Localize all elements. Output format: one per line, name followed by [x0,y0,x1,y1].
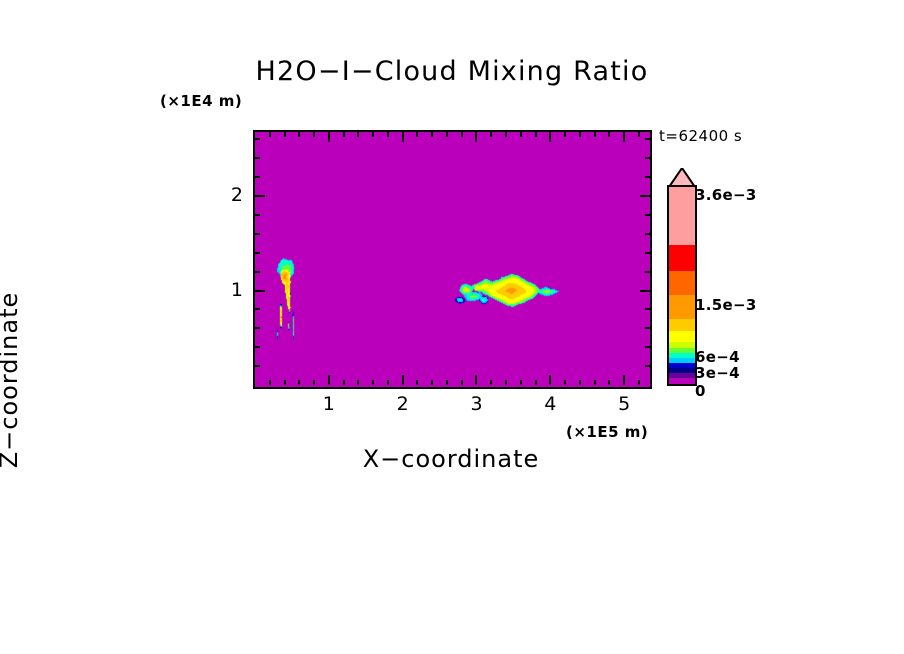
x-minor-tick-top [313,132,315,137]
x-minor-tick [372,380,374,385]
x-minor-tick-top [564,132,566,137]
y-axis-unit-label: (×1E4 m) [160,92,242,110]
x-minor-tick [520,380,522,385]
y-major-tick [255,290,265,292]
x-minor-tick-top [461,132,463,137]
y-minor-tick-right [645,365,650,367]
x-major-tick-top [623,132,625,142]
y-major-tick [255,195,265,197]
x-tick-label: 1 [314,393,344,415]
x-tick-label: 5 [609,393,639,415]
x-major-tick-top [475,132,477,142]
x-minor-tick [313,380,315,385]
colorbar-tick-label: 3.6e−3 [695,186,757,204]
x-minor-tick [579,380,581,385]
y-minor-tick [255,157,260,159]
y-minor-tick-right [645,157,650,159]
y-minor-tick-right [645,271,650,273]
x-major-tick [328,375,330,385]
timestamp-label: t=62400 s [659,127,742,145]
x-tick-label: 4 [535,393,565,415]
x-minor-tick-top [594,132,596,137]
y-minor-tick-right [645,233,650,235]
x-minor-tick [638,380,640,385]
y-axis-title: Z−coordinate [0,180,23,580]
y-minor-tick [255,233,260,235]
x-minor-tick [446,380,448,385]
x-major-tick [475,375,477,385]
x-minor-tick [284,380,286,385]
y-minor-tick-right [645,346,650,348]
x-minor-tick [298,380,300,385]
x-minor-tick [535,380,537,385]
colorbar-band [667,331,697,342]
x-minor-tick-top [357,132,359,137]
y-minor-tick [255,346,260,348]
colorbar-bands [667,185,697,386]
colorbar-band [667,245,697,271]
colorbar-band [667,185,697,245]
y-tick-label: 1 [213,279,243,301]
page-title: H2O−I−Cloud Mixing Ratio [0,56,904,87]
x-minor-tick [564,380,566,385]
colorbar-tick-label: 3e−4 [695,364,740,382]
x-minor-tick-top [298,132,300,137]
x-minor-tick-top [490,132,492,137]
x-minor-tick [594,380,596,385]
x-minor-tick-top [505,132,507,137]
x-minor-tick-top [284,132,286,137]
x-tick-label: 2 [388,393,418,415]
y-major-tick-right [640,290,650,292]
x-minor-tick-top [638,132,640,137]
x-major-tick-top [328,132,330,142]
y-minor-tick-right [645,308,650,310]
y-minor-tick-right [645,252,650,254]
x-minor-tick [608,380,610,385]
y-minor-tick-right [645,214,650,216]
y-minor-tick [255,214,260,216]
y-minor-tick [255,308,260,310]
x-minor-tick [357,380,359,385]
x-minor-tick [387,380,389,385]
x-minor-tick-top [446,132,448,137]
x-minor-tick-top [416,132,418,137]
x-major-tick [402,375,404,385]
x-minor-tick-top [431,132,433,137]
colorbar-band [667,378,697,384]
y-minor-tick [255,176,260,178]
colorbar-band [667,319,697,331]
colorbar-tick-label: 1.5e−3 [695,296,757,314]
x-minor-tick [269,380,271,385]
x-minor-tick [343,380,345,385]
y-minor-tick [255,327,260,329]
x-minor-tick-top [608,132,610,137]
contour-plot-area [253,130,652,389]
colorbar-band [667,271,697,295]
y-minor-tick [255,138,260,140]
y-minor-tick-right [645,327,650,329]
y-minor-tick-right [645,176,650,178]
y-minor-tick [255,271,260,273]
contour-field-canvas [255,132,650,387]
x-minor-tick-top [372,132,374,137]
x-major-tick [623,375,625,385]
x-tick-label: 3 [461,393,491,415]
x-minor-tick-top [343,132,345,137]
y-minor-tick [255,252,260,254]
y-tick-label: 2 [213,184,243,206]
x-minor-tick [461,380,463,385]
y-minor-tick [255,365,260,367]
x-minor-tick [490,380,492,385]
x-axis-title: X−coordinate [253,445,649,473]
x-minor-tick [505,380,507,385]
x-minor-tick-top [269,132,271,137]
y-major-tick-right [640,195,650,197]
x-minor-tick-top [535,132,537,137]
x-minor-tick [416,380,418,385]
x-axis-unit-label: (×1E5 m) [566,423,648,441]
x-major-tick-top [402,132,404,142]
y-minor-tick-right [645,138,650,140]
x-minor-tick [431,380,433,385]
colorbar-band [667,295,697,319]
x-major-tick [549,375,551,385]
x-minor-tick-top [387,132,389,137]
colorbar-tick-label: 0 [695,382,706,400]
x-minor-tick-top [579,132,581,137]
x-major-tick-top [549,132,551,142]
x-minor-tick-top [520,132,522,137]
